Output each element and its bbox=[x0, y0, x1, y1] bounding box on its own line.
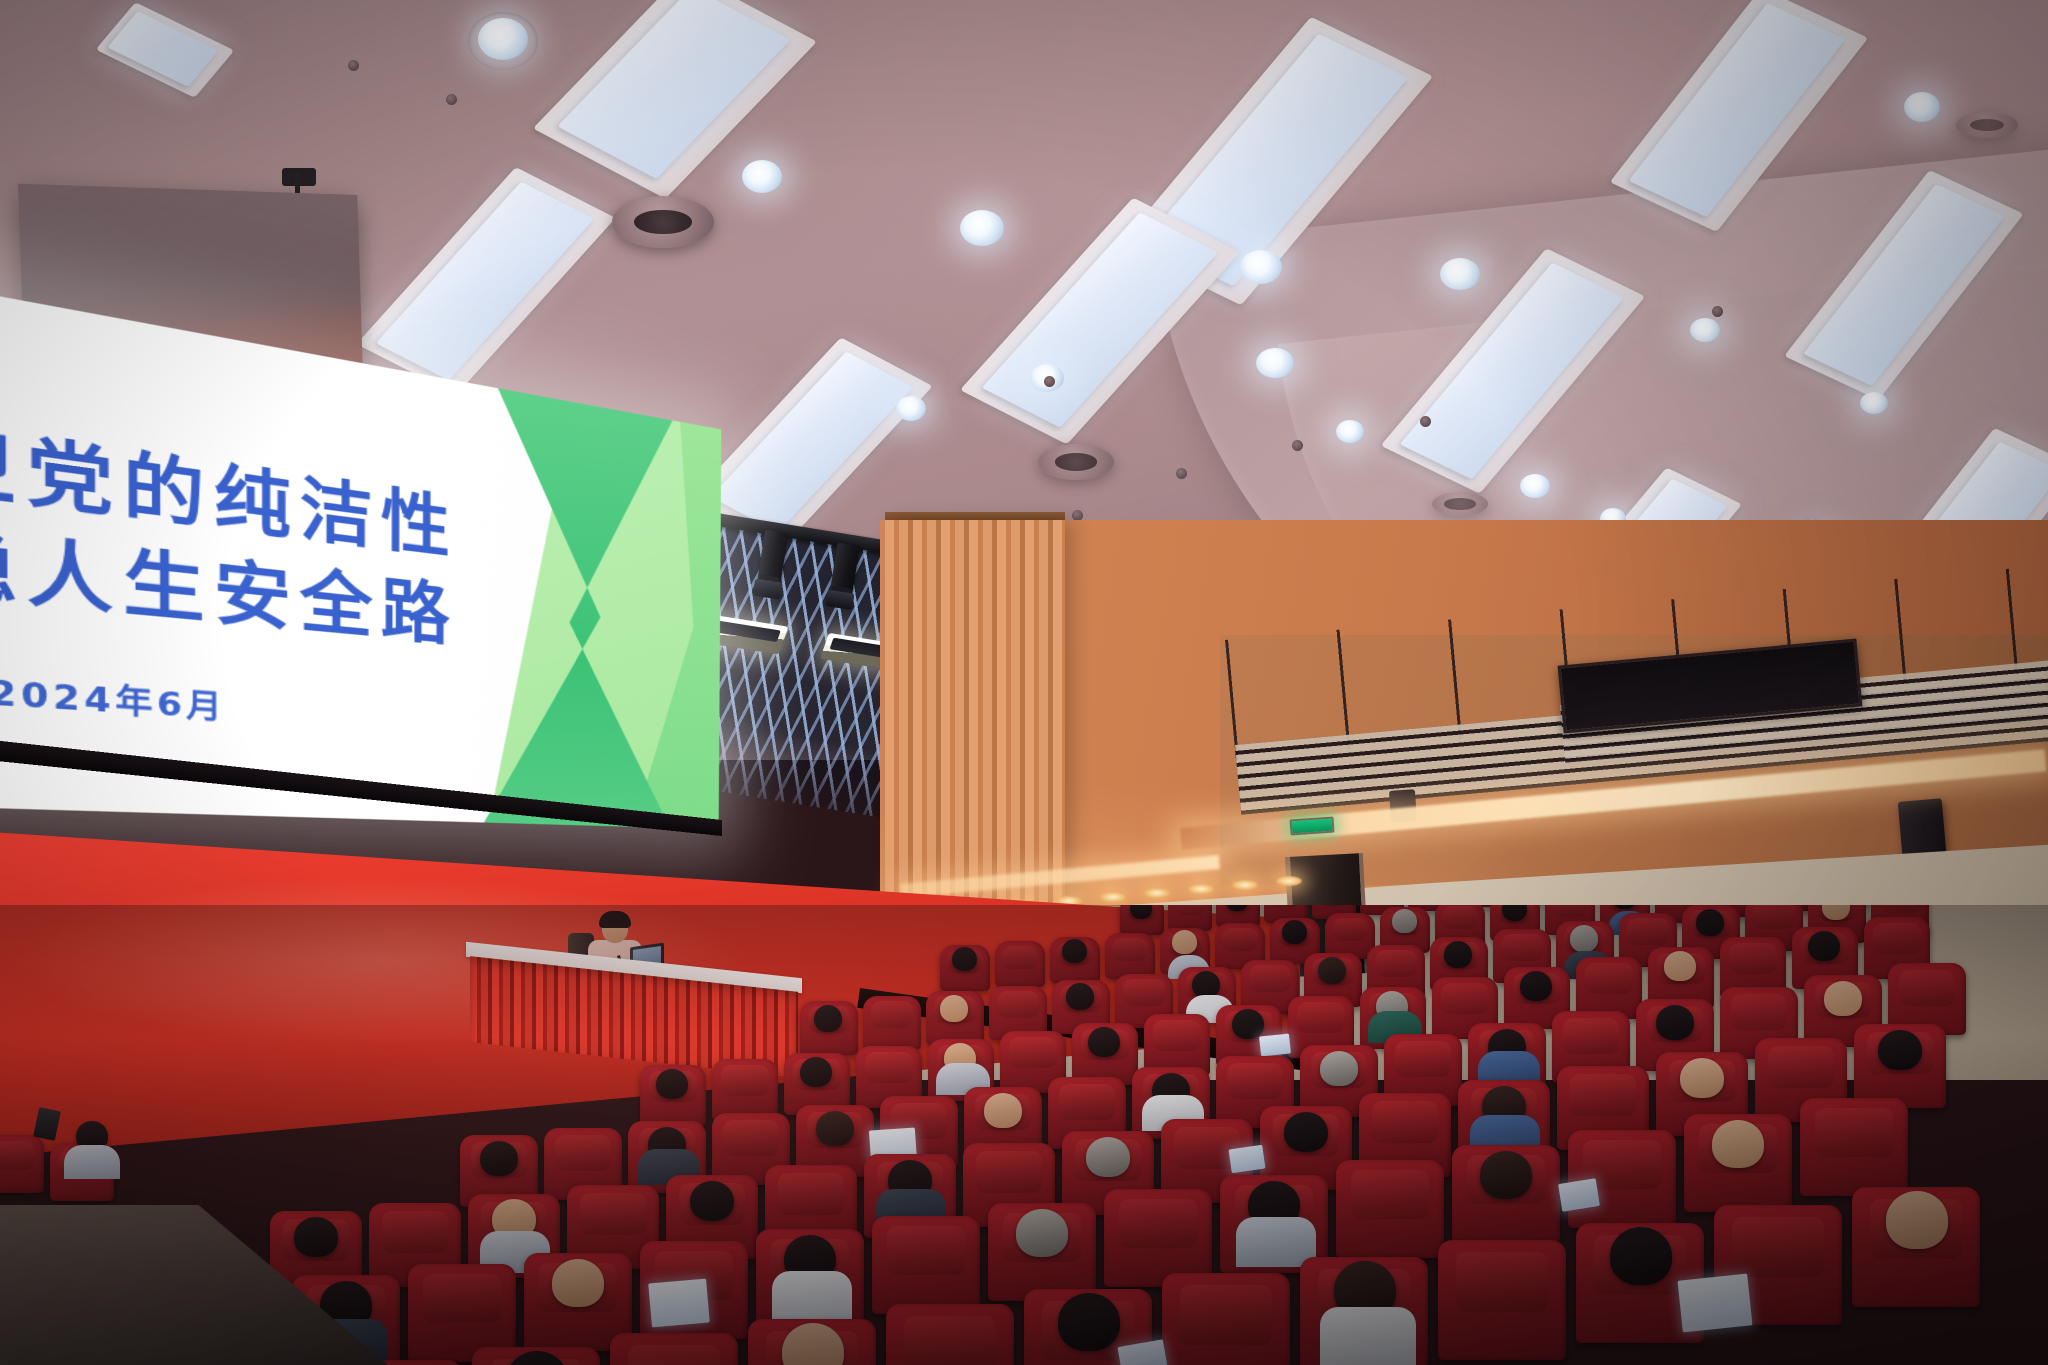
hvac-ceiling-diffuser bbox=[612, 196, 714, 248]
audience-member bbox=[1392, 909, 1417, 933]
audience-member bbox=[1808, 931, 1840, 961]
audience-seat[interactable] bbox=[1336, 1160, 1444, 1258]
audience-seat[interactable] bbox=[1800, 1098, 1908, 1196]
audience-laptop[interactable] bbox=[1677, 1273, 1752, 1332]
recessed-downlight bbox=[1860, 392, 1888, 414]
sprinkler-head bbox=[1176, 468, 1187, 479]
audience-seat[interactable] bbox=[863, 996, 921, 1050]
audience-seat[interactable] bbox=[1105, 933, 1155, 979]
stage-step-light bbox=[1276, 876, 1302, 886]
audience-camera[interactable] bbox=[33, 1107, 61, 1141]
audience-seat[interactable] bbox=[610, 1333, 738, 1365]
slide-text-block: 捍卫党的纯洁性 行稳人生安全路 2024年6月 bbox=[0, 393, 459, 743]
recessed-downlight bbox=[960, 210, 1004, 246]
audience-member bbox=[1570, 925, 1598, 952]
audience-member bbox=[814, 1005, 842, 1032]
stage-step-light bbox=[1188, 884, 1214, 894]
audience-member bbox=[1680, 1058, 1724, 1098]
audience-member bbox=[952, 947, 977, 971]
recessed-downlight bbox=[1240, 250, 1282, 284]
recessed-downlight bbox=[1690, 318, 1720, 342]
hvac-ceiling-diffuser bbox=[1432, 492, 1488, 516]
recessed-downlight bbox=[1904, 92, 1940, 122]
audience-member bbox=[1066, 983, 1094, 1010]
audience-member bbox=[656, 1069, 688, 1099]
audience-member-shoulders bbox=[64, 1145, 120, 1179]
audience-seat[interactable] bbox=[1162, 1273, 1290, 1365]
audience-seat[interactable] bbox=[995, 941, 1045, 987]
audience-seat[interactable] bbox=[1438, 1240, 1566, 1360]
exit-sign bbox=[1289, 816, 1334, 835]
audience-seat[interactable] bbox=[712, 1059, 778, 1121]
audience-member bbox=[690, 1181, 734, 1221]
audience-member bbox=[1086, 1137, 1130, 1177]
audience-member bbox=[800, 1057, 832, 1087]
audience-laptop[interactable] bbox=[648, 1279, 710, 1328]
audience-member bbox=[1656, 1005, 1694, 1040]
audience-member bbox=[480, 1141, 518, 1176]
audience-phone[interactable] bbox=[1228, 1145, 1265, 1173]
recessed-downlight bbox=[1336, 420, 1364, 443]
audience-member bbox=[1320, 1051, 1358, 1086]
audience-member bbox=[940, 995, 968, 1022]
sprinkler-head bbox=[348, 60, 359, 71]
sprinkler-head bbox=[1712, 306, 1723, 317]
audience-member bbox=[1062, 939, 1087, 963]
audience-area bbox=[0, 905, 2048, 1365]
audience-member bbox=[1696, 909, 1724, 936]
audience-seat[interactable] bbox=[1576, 957, 1642, 1019]
recessed-downlight bbox=[478, 18, 528, 60]
audience-member bbox=[1444, 941, 1472, 968]
audience-member bbox=[552, 1259, 604, 1307]
audience-member bbox=[984, 1093, 1022, 1128]
audience-member bbox=[1712, 1120, 1764, 1168]
audience-seat[interactable] bbox=[886, 1304, 1014, 1365]
recessed-downlight bbox=[1256, 348, 1294, 378]
audience-member bbox=[1610, 1227, 1672, 1285]
hvac-ceiling-diffuser bbox=[1038, 444, 1114, 480]
audience-member bbox=[1282, 920, 1307, 944]
sprinkler-head bbox=[1420, 416, 1431, 427]
recessed-downlight bbox=[1520, 474, 1550, 498]
audience-member bbox=[1878, 1030, 1922, 1070]
auditorium-scene: 捍卫党的纯洁性 行稳人生安全路 2024年6月 bbox=[0, 0, 2048, 1365]
audience-member bbox=[1058, 1293, 1120, 1351]
audience-seat[interactable] bbox=[872, 1216, 980, 1314]
audience-member bbox=[294, 1217, 338, 1257]
audience-seat[interactable] bbox=[0, 1135, 44, 1193]
audience-phone[interactable] bbox=[1558, 1178, 1600, 1212]
audience-member bbox=[1232, 1009, 1264, 1039]
audience-member-shoulders bbox=[1320, 1307, 1416, 1365]
hvac-ceiling-diffuser bbox=[1956, 112, 2018, 138]
stage-step-light bbox=[1144, 888, 1170, 898]
audience-member bbox=[1520, 971, 1552, 1001]
audience-member bbox=[1480, 1151, 1532, 1199]
audience-member bbox=[1318, 957, 1346, 984]
stage-step-light bbox=[1100, 892, 1126, 902]
audience-phone[interactable] bbox=[1259, 1033, 1291, 1056]
audience-member bbox=[1088, 1027, 1120, 1057]
sprinkler-head bbox=[446, 94, 457, 105]
audience-member bbox=[1886, 1191, 1948, 1249]
recessed-downlight bbox=[896, 396, 926, 421]
stage-step-light bbox=[1232, 880, 1258, 890]
audience-member bbox=[1172, 930, 1197, 954]
audience-member bbox=[1664, 951, 1696, 981]
audience-member bbox=[1016, 1209, 1068, 1257]
sprinkler-head bbox=[1044, 376, 1055, 387]
audience-member-shoulders bbox=[772, 1271, 852, 1321]
audience-member bbox=[1284, 1112, 1328, 1152]
slide-date: 2024年6月 bbox=[0, 653, 458, 742]
audience-member bbox=[1824, 981, 1862, 1016]
audience-member bbox=[1192, 971, 1220, 998]
recessed-downlight bbox=[1440, 258, 1480, 290]
sprinkler-head bbox=[1292, 440, 1303, 451]
audience-member bbox=[816, 1111, 854, 1146]
recessed-downlight bbox=[742, 160, 782, 193]
